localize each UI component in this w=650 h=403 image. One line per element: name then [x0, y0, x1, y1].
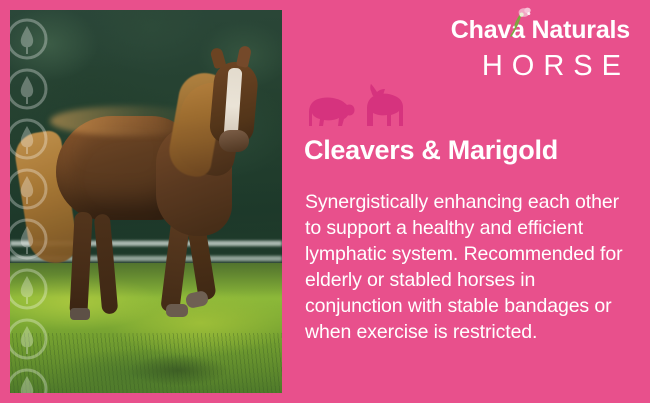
chava-naturals-leaf-mark-icon: [10, 166, 50, 212]
brand-subtitle: HORSE: [451, 52, 630, 81]
brand-lockup: Chava Naturals HORSE: [451, 18, 630, 81]
brand-name: Chava Naturals: [451, 18, 630, 43]
horse-hoof-rear: [70, 308, 90, 320]
photo-frame-left: [0, 0, 10, 403]
horse-standing-icon: [367, 84, 403, 126]
horse-leg-rear-right: [94, 213, 119, 314]
horse-hoof-front: [166, 304, 188, 317]
horse-photograph: [10, 10, 282, 393]
horse-ear-right: [236, 45, 252, 68]
product-banner: Chava Naturals HORSE: [0, 0, 650, 403]
content-panel: Chava Naturals HORSE: [282, 0, 650, 403]
chava-naturals-leaf-mark-icon: [10, 66, 50, 112]
chava-naturals-leaf-mark-icon: [10, 116, 50, 162]
horse-grazing-icon: [309, 98, 355, 127]
product-description: Synergistically enhancing each other to …: [305, 190, 635, 346]
watermark-column: [10, 10, 62, 393]
chava-naturals-leaf-mark-icon: [10, 216, 50, 262]
horse-ear-left: [209, 47, 226, 70]
horse-icon-pair: [305, 80, 409, 128]
chava-naturals-leaf-mark-icon: [10, 266, 50, 312]
horse-hoof-raised: [185, 290, 210, 309]
horse-muzzle: [219, 130, 249, 152]
photo-frame-top: [0, 0, 282, 10]
photo-panel: [0, 0, 282, 403]
product-headline: Cleavers & Marigold: [304, 136, 640, 166]
chava-naturals-leaf-mark-icon: [10, 366, 50, 393]
chava-naturals-leaf-mark-icon: [10, 16, 50, 62]
photo-frame-bottom: [0, 393, 282, 403]
chava-naturals-leaf-mark-icon: [10, 316, 50, 362]
